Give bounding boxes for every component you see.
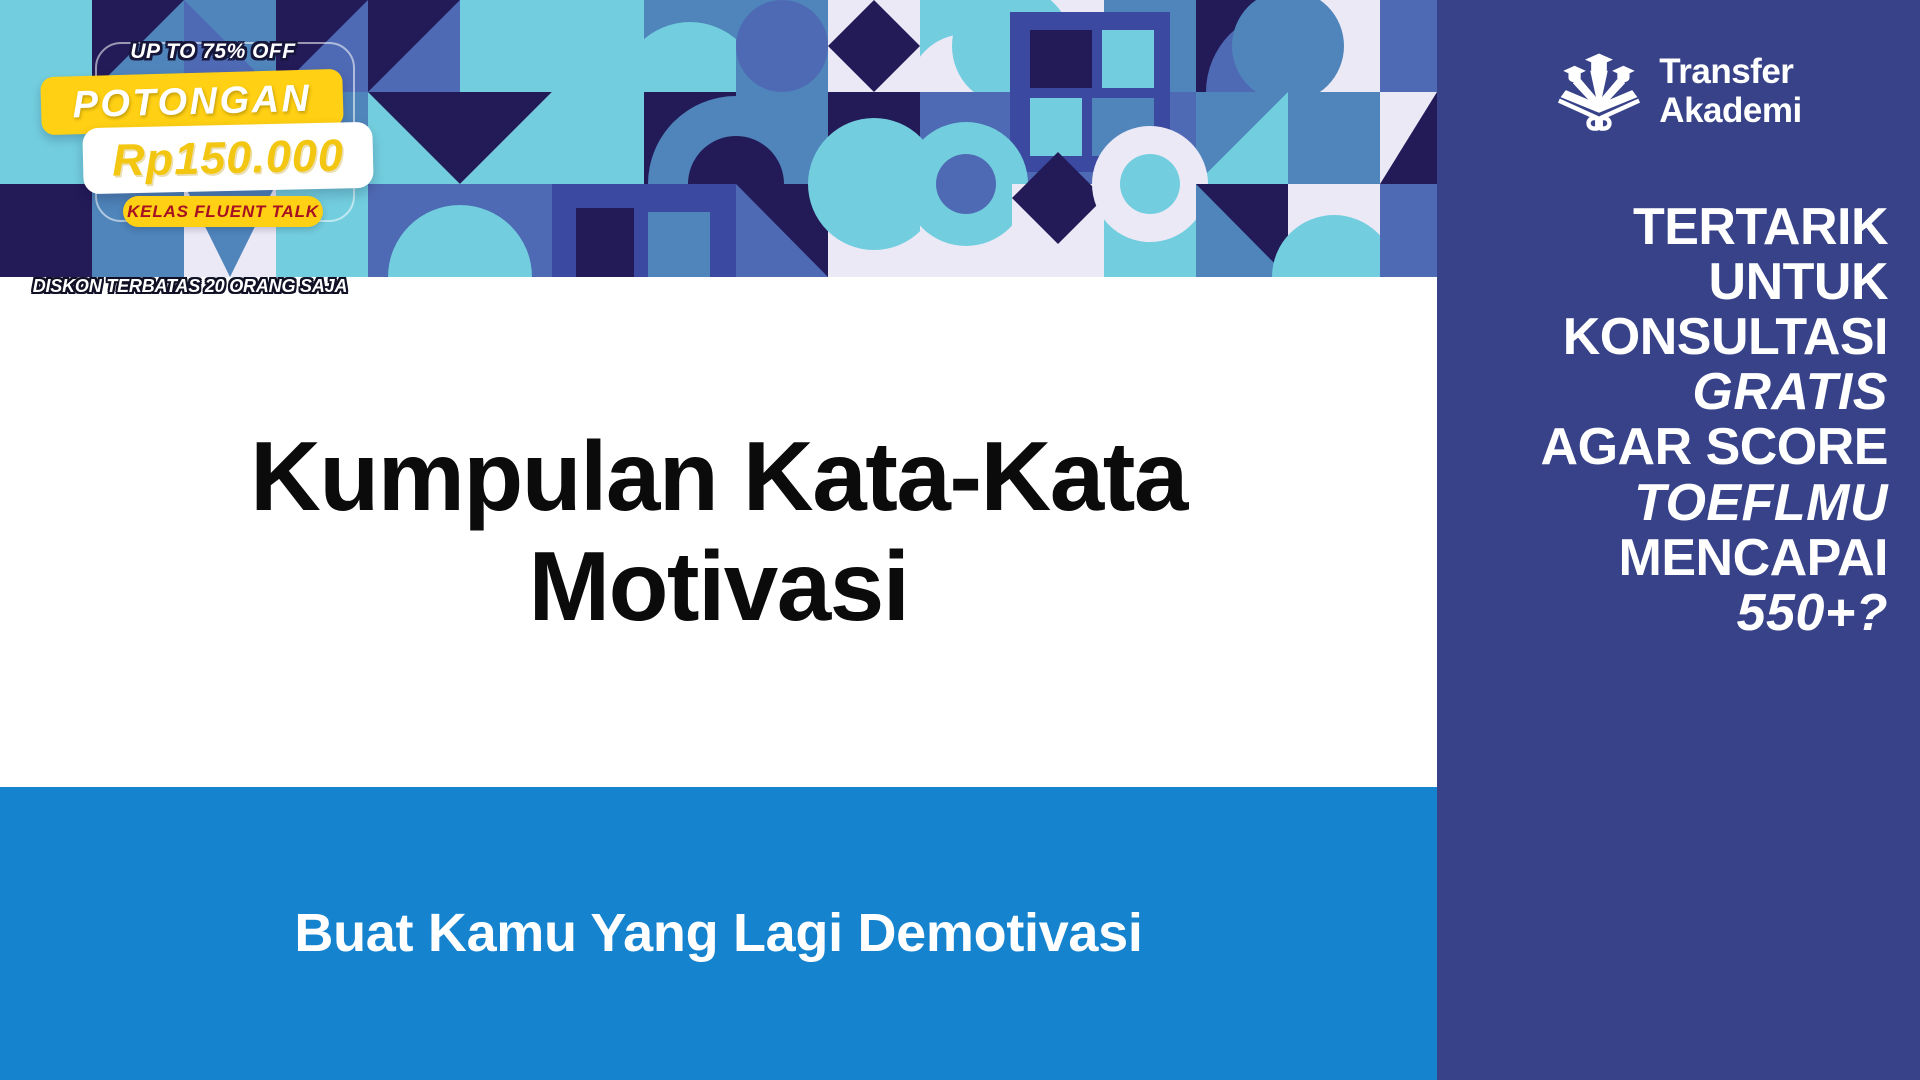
brand-lockup: Transfer Akademi xyxy=(1437,36,1920,146)
headline-area: Kumpulan Kata-Kata Motivasi xyxy=(0,277,1437,787)
limited-quota-note: DISKON TERBATAS 20 ORANG SAJA xyxy=(30,276,350,297)
cta-line-3: KONSULTASI xyxy=(1437,310,1888,365)
price-plate: Rp150.000 xyxy=(82,122,373,195)
cta-side-panel: Transfer Akademi TERTARIK UNTUK KONSULTA… xyxy=(1437,0,1920,1080)
class-name-label: KELAS FLUENT TALK xyxy=(127,202,319,222)
brand-name: Transfer Akademi xyxy=(1659,52,1801,130)
left-column: UP TO 75% OFF POTONGAN Rp150.000 KELAS F… xyxy=(0,0,1437,1080)
page-subtitle: Buat Kamu Yang Lagi Demotivasi xyxy=(219,901,1219,967)
cta-line-6: TOEFLMU xyxy=(1437,476,1888,531)
promo-slide: UP TO 75% OFF POTONGAN Rp150.000 KELAS F… xyxy=(0,0,1920,1080)
cta-copy-block: TERTARIK UNTUK KONSULTASI GRATIS AGAR SC… xyxy=(1437,200,1920,641)
promo-discount-badge: UP TO 75% OFF POTONGAN Rp150.000 KELAS F… xyxy=(35,18,365,268)
class-name-pill: KELAS FLUENT TALK xyxy=(123,196,323,227)
up-to-label: UP TO 75% OFF xyxy=(113,40,313,64)
cta-line-4: GRATIS xyxy=(1437,365,1888,420)
page-title: Kumpulan Kata-Kata Motivasi xyxy=(129,422,1309,642)
cta-line-7: MENCAPAI xyxy=(1437,531,1888,586)
cta-line-1: TERTARIK xyxy=(1437,200,1888,255)
cta-line-2: UNTUK xyxy=(1437,255,1888,310)
open-book-graduation-caps-icon xyxy=(1555,50,1643,132)
discount-price: Rp150.000 xyxy=(82,122,373,195)
cta-line-8: 550+? xyxy=(1437,586,1888,641)
cta-line-5: AGAR SCORE xyxy=(1437,420,1888,475)
subtitle-bar: Buat Kamu Yang Lagi Demotivasi xyxy=(0,787,1437,1080)
